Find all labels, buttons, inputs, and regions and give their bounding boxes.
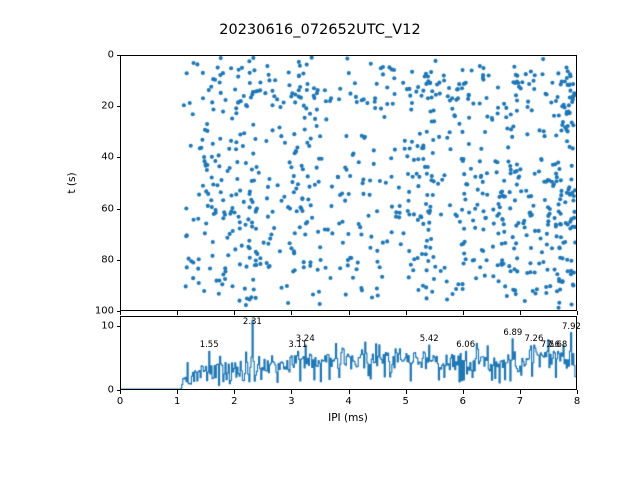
axis-tick-mark <box>117 326 121 327</box>
y-axis-label-scatter: t (s) <box>66 172 78 193</box>
ytick-label-scatter: 60 <box>90 203 114 214</box>
axis-tick-mark <box>120 390 121 394</box>
axis-tick-mark <box>406 311 407 315</box>
page-title: 20230616_072652UTC_V12 <box>0 22 640 38</box>
xtick-label: 8 <box>574 396 580 407</box>
axis-tick-mark <box>291 390 292 394</box>
peak-label: 5.42 <box>420 334 439 344</box>
histogram-axes: 1.552.313.113.245.426.066.897.267.57.67.… <box>120 316 577 390</box>
axis-tick-mark <box>577 311 578 315</box>
ytick-label-scatter: 0 <box>90 50 114 61</box>
xtick-label: 1 <box>174 396 180 407</box>
axis-tick-mark <box>120 311 121 315</box>
xtick-label: 7 <box>517 396 523 407</box>
x-axis-label: IPI (ms) <box>328 412 368 424</box>
axis-tick-mark <box>520 311 521 315</box>
axis-tick-mark <box>349 390 350 394</box>
axis-tick-mark <box>349 311 350 315</box>
axis-tick-mark <box>520 390 521 394</box>
peak-label: 7.68 <box>548 340 567 350</box>
xtick-label: 5 <box>402 396 408 407</box>
ytick-label-scatter: 100 <box>90 306 114 317</box>
peak-annotation-group: 1.552.313.113.245.426.066.897.267.57.67.… <box>121 317 578 391</box>
peak-label: 6.89 <box>503 328 522 338</box>
axis-tick-mark <box>177 311 178 315</box>
axis-tick-mark <box>117 106 121 107</box>
axis-tick-mark <box>463 390 464 394</box>
peak-label: 1.55 <box>200 340 219 350</box>
scatter-plot-axes <box>120 55 577 311</box>
peak-label: 7.92 <box>562 322 581 332</box>
ytick-label-histogram: 0 <box>90 385 114 396</box>
ytick-label-scatter: 20 <box>90 101 114 112</box>
peak-label: 2.31 <box>243 317 262 327</box>
axis-tick-mark <box>234 390 235 394</box>
ytick-label-scatter: 40 <box>90 152 114 163</box>
axis-tick-mark <box>117 157 121 158</box>
axis-tick-mark <box>117 209 121 210</box>
matplotlib-figure: 20230616_072652UTC_V12 t (s) 1.552.313.1… <box>0 0 640 480</box>
axis-tick-mark <box>291 311 292 315</box>
peak-label: 6.06 <box>456 340 475 350</box>
xtick-label: 0 <box>117 396 123 407</box>
axis-tick-mark <box>117 55 121 56</box>
axis-tick-mark <box>177 390 178 394</box>
xtick-label: 2 <box>231 396 237 407</box>
axis-tick-mark <box>234 311 235 315</box>
ytick-label-scatter: 80 <box>90 254 114 265</box>
axis-tick-mark <box>117 260 121 261</box>
ytick-label-histogram: 10 <box>90 320 114 331</box>
axis-tick-mark <box>577 390 578 394</box>
scatter-points-layer <box>121 56 576 310</box>
xtick-label: 3 <box>288 396 294 407</box>
xtick-label: 6 <box>460 396 466 407</box>
peak-label: 3.24 <box>296 334 315 344</box>
axis-tick-mark <box>463 311 464 315</box>
xtick-label: 4 <box>345 396 351 407</box>
axis-tick-mark <box>406 390 407 394</box>
